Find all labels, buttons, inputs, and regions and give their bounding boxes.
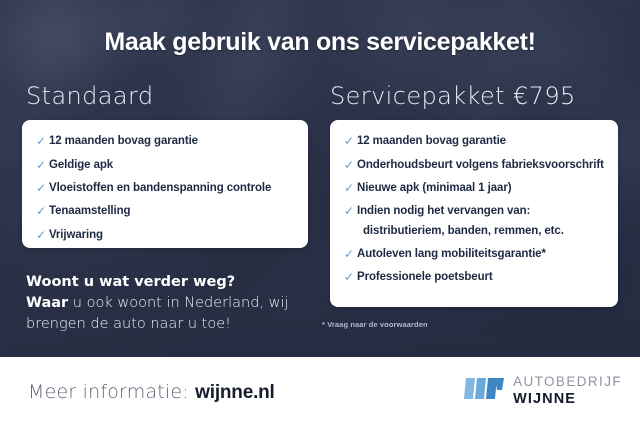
list-item: ✓ Geldige apk (36, 153, 294, 176)
list-item: ✓ 12 maanden bovag garantie (36, 130, 294, 153)
list-item-label: 12 maanden bovag garantie (49, 135, 198, 148)
list-item-label: Professionele poetsbeurt (357, 271, 493, 284)
check-icon: ✓ (36, 182, 49, 195)
check-icon: ✓ (36, 135, 49, 148)
list-item: ✓ Vloeistoffen en bandenspanning control… (36, 177, 294, 200)
promo-line-1: Woont u wat verder weg? (26, 272, 326, 293)
list-item: ✓ Professionele poetsbeurt (344, 266, 604, 289)
logo-line-autobedrijf: AUTOBEDRIJF (513, 375, 622, 389)
website-link[interactable]: wijnne.nl (195, 382, 274, 403)
list-item: ✓ Tenaamstelling (36, 200, 294, 223)
list-item-label: Onderhoudsbeurt volgens fabrieksvoorschr… (357, 159, 604, 172)
wijnne-w-mark-icon (464, 376, 504, 406)
standard-feature-list: ✓ 12 maanden bovag garantie ✓ Geldige ap… (36, 130, 294, 247)
promo-line-3: brengen de auto naar u toe! (26, 314, 326, 335)
delivery-promo-text: Woont u wat verder weg? Waar u ook woont… (26, 272, 326, 335)
list-item: ✓ Nieuwe apk (minimaal 1 jaar) (344, 177, 604, 200)
check-icon: ✓ (344, 135, 357, 148)
company-logo[interactable]: AUTOBEDRIJF WIJNNE (464, 375, 622, 406)
list-item: ✓ Indien nodig het vervangen van: (344, 200, 604, 223)
check-icon: ✓ (344, 159, 357, 172)
standard-column-heading: Standaard (26, 82, 154, 110)
list-item: ✓ Onderhoudsbeurt volgens fabrieksvoorsc… (344, 153, 604, 176)
footer-bar: Meer informatie: wijnne.nl AUTOBEDRIJF W… (0, 357, 640, 427)
list-item: ✓ Autoleven lang mobiliteitsgarantie* (344, 243, 604, 266)
terms-footnote: * Vraag naar de voorwaarden (322, 320, 428, 329)
list-item-continuation: ✓ distributieriem, banden, remmen, etc. (344, 224, 604, 243)
logo-line-wijnne: WIJNNE (513, 392, 622, 407)
service-features-card: ✓ 12 maanden bovag garantie ✓ Onderhouds… (330, 120, 618, 307)
promo-line-2-bold: Waar (26, 295, 68, 311)
service-column-heading: Servicepakket €795 (330, 82, 576, 110)
check-icon: ✓ (344, 205, 357, 218)
list-item-label: Indien nodig het vervangen van: (357, 205, 530, 218)
standard-features-card: ✓ 12 maanden bovag garantie ✓ Geldige ap… (22, 120, 308, 248)
check-icon: ✓ (344, 182, 357, 195)
list-item-label: distributieriem, banden, remmen, etc. (357, 225, 564, 238)
promo-line-2: Waar u ook woont in Nederland, wij (26, 293, 326, 314)
logo-wordmark: AUTOBEDRIJF WIJNNE (513, 375, 622, 406)
list-item-label: Vloeistoffen en bandenspanning controle (49, 182, 271, 195)
list-item-label: Vrijwaring (49, 229, 103, 242)
promo-line-2-rest: u ook woont in Nederland, wij (68, 295, 288, 311)
list-item-label: Tenaamstelling (49, 205, 130, 218)
list-item: ✓ 12 maanden bovag garantie (344, 130, 604, 153)
list-item: ✓ Vrijwaring (36, 224, 294, 247)
list-item-label: Autoleven lang mobiliteitsgarantie* (357, 248, 546, 261)
list-item-label: 12 maanden bovag garantie (357, 135, 506, 148)
check-icon: ✓ (344, 248, 357, 261)
more-info-label: Meer informatie: (28, 381, 189, 403)
headline: Maak gebruik van ons servicepakket! (0, 28, 640, 57)
check-icon: ✓ (36, 159, 49, 172)
list-item-label: Geldige apk (49, 159, 113, 172)
service-feature-list: ✓ 12 maanden bovag garantie ✓ Onderhouds… (344, 130, 604, 289)
more-info-text: Meer informatie: wijnne.nl (28, 381, 275, 404)
advertisement-banner: Maak gebruik van ons servicepakket! Stan… (0, 0, 640, 427)
check-icon: ✓ (344, 271, 357, 284)
check-icon: ✓ (36, 205, 49, 218)
list-item-label: Nieuwe apk (minimaal 1 jaar) (357, 182, 511, 195)
check-icon: ✓ (36, 229, 49, 242)
